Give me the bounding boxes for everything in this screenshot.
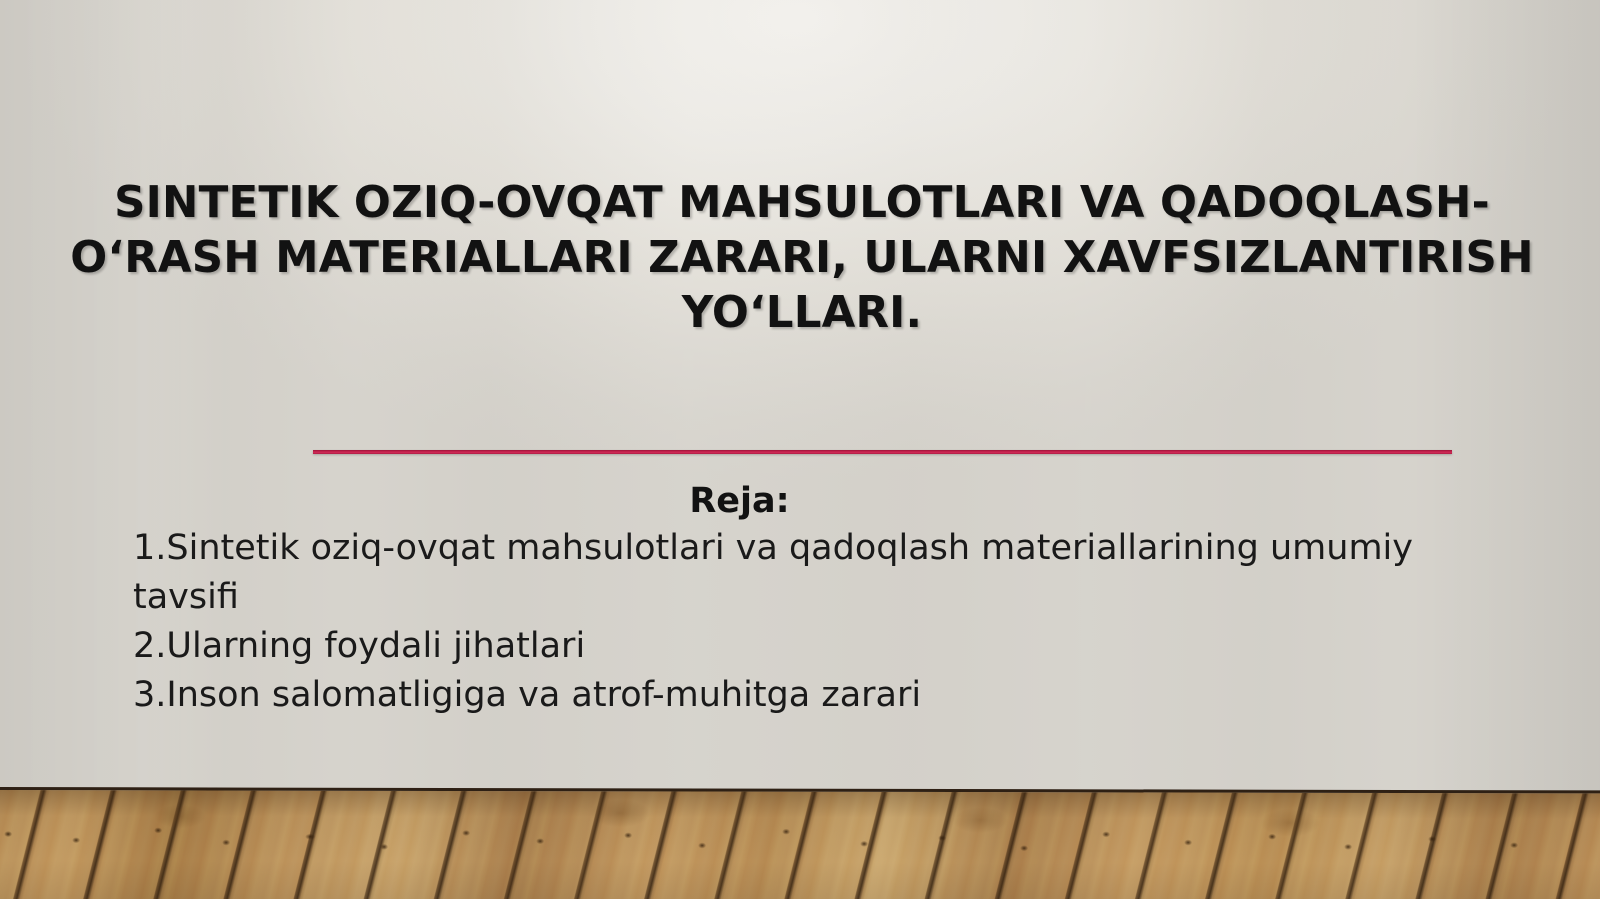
accent-divider-line [313,450,1452,454]
slide-title: SINTETIK OZIQ-OVQAT MAHSULOTLARI VA QADO… [60,176,1544,341]
slide-body-content: Reja: 1.Sintetik oziq-ovqat mahsulotlari… [133,478,1513,720]
plan-item-2: 2.Ularning foydali jihatlari [133,622,1513,671]
wooden-floor-graphic [0,787,1600,899]
plan-item-1: 1.Sintetik oziq-ovqat mahsulotlari va qa… [133,524,1513,622]
floor-shading-overlay [0,790,1600,899]
plan-heading: Reja: [133,478,1513,524]
plan-item-3: 3.Inson salomatligiga va atrof-muhitga z… [133,671,1513,720]
presentation-slide: SINTETIK OZIQ-OVQAT MAHSULOTLARI VA QADO… [0,0,1600,899]
